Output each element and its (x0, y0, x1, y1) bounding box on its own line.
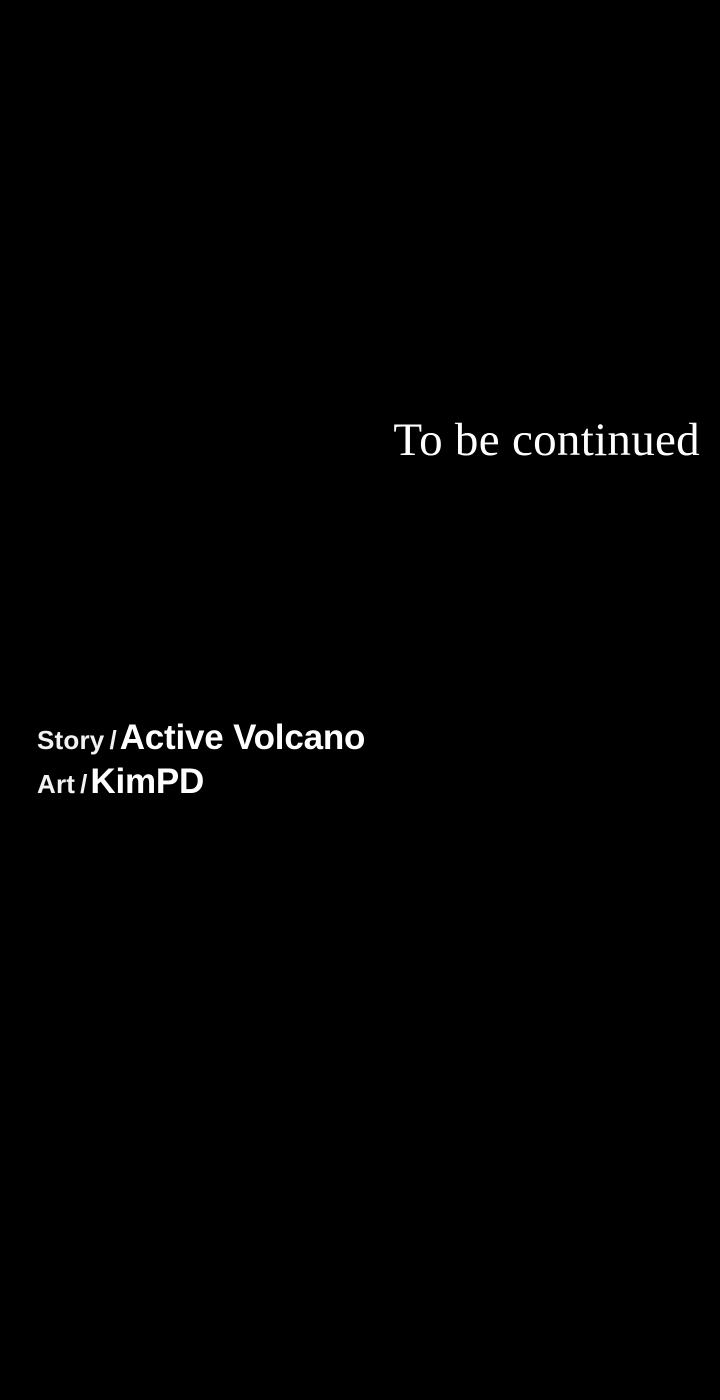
credit-name-story: Active Volcano (120, 718, 366, 757)
credit-line-art: Art/KimPD (37, 760, 637, 804)
to-be-continued-row: To be continued (0, 412, 700, 468)
credit-name-art: KimPD (90, 762, 204, 801)
to-be-continued-text: To be continued (393, 412, 700, 468)
credits-block: Story/Active Volcano Art/KimPD (37, 716, 637, 804)
episode-end-panel: To be continued Story/Active Volcano Art… (0, 0, 720, 1400)
credit-line-story: Story/Active Volcano (37, 716, 637, 760)
credit-separator-art: / (75, 769, 90, 799)
credit-separator-story: / (104, 725, 119, 755)
credit-role-label-art: Art (37, 769, 75, 799)
credit-role-label-story: Story (37, 725, 104, 755)
